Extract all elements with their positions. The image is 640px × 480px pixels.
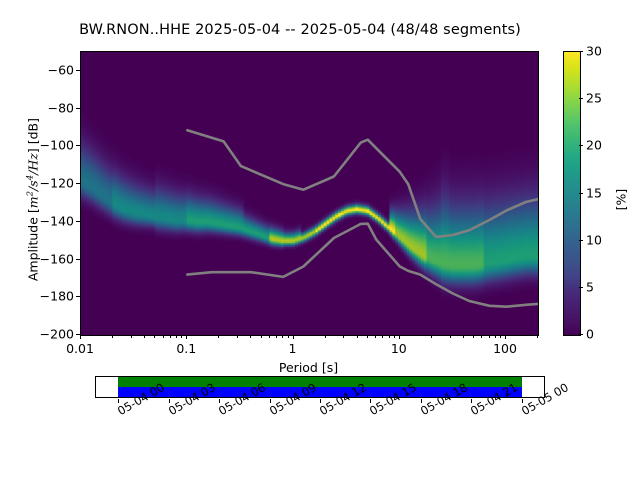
colorbar-tick-label: 30 (586, 44, 602, 59)
y-tick-label: −180 (40, 289, 74, 304)
y-label-prefix: Amplitude [ (26, 208, 41, 281)
y-label-s-exponent: 4 (25, 175, 35, 180)
y-tick-label: −100 (40, 138, 74, 153)
coverage-time-tick (270, 399, 271, 403)
x-gridline (538, 52, 539, 335)
colorbar-tick (579, 334, 583, 335)
y-tick-label: −200 (40, 327, 74, 342)
colorbar-tick (579, 287, 583, 288)
y-label-slash-1: / (26, 187, 41, 191)
x-gridline (538, 52, 539, 335)
x-tick-label: 1 (289, 341, 297, 356)
nlnm-curve (187, 224, 538, 307)
noise-model-curves (81, 52, 538, 335)
colorbar-tick-label: 15 (586, 185, 602, 200)
colorbar-tick-label: 25 (586, 91, 602, 106)
colorbar-tick (579, 145, 583, 146)
colorbar-tick-label: 0 (586, 327, 594, 342)
x-tick-label: 100 (493, 341, 517, 356)
y-label-s: s (26, 180, 41, 186)
colorbar-tick-label: 5 (586, 279, 594, 294)
colorbar-tick-label: 20 (586, 138, 602, 153)
ppsd-plot-area[interactable] (80, 51, 539, 336)
ppsd-figure: BW.RNON..HHE 2025-05-04 -- 2025-05-04 (4… (0, 0, 640, 480)
y-tick-label: −160 (40, 251, 74, 266)
y-axis-label: Amplitude [m2/s4/Hz] [dB] (25, 70, 40, 330)
colorbar-tick (579, 240, 583, 241)
x-tick-label: 0.01 (66, 341, 94, 356)
colorbar-tick-label: 10 (586, 232, 602, 247)
y-tick-label: −80 (48, 100, 74, 115)
coverage-time-tick (522, 399, 523, 403)
y-label-m: m (26, 196, 41, 208)
colorbar-label: [%] (613, 189, 628, 211)
colorbar[interactable] (563, 51, 581, 336)
x-axis-label: Period [s] (80, 360, 537, 375)
x-tick-label: 0.1 (176, 341, 196, 356)
y-label-m-exponent: 2 (25, 191, 35, 196)
colorbar-tick (579, 51, 583, 52)
y-label-slash-2: / (26, 171, 41, 175)
nhnm-curve (187, 130, 538, 237)
colorbar-tick (579, 98, 583, 99)
y-tick-label: −120 (40, 176, 74, 191)
y-tick-label: −60 (48, 62, 74, 77)
y-label-suffix: ] [dB] (26, 118, 41, 153)
y-label-hz: Hz (26, 153, 41, 171)
figure-title: BW.RNON..HHE 2025-05-04 -- 2025-05-04 (4… (0, 22, 600, 38)
x-tick-label: 10 (391, 341, 407, 356)
colorbar-tick (579, 193, 583, 194)
y-tick-label: −140 (40, 213, 74, 228)
